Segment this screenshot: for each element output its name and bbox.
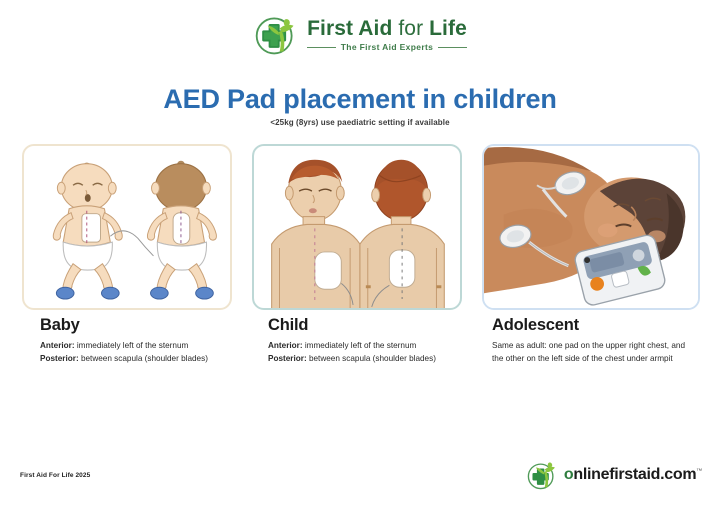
caption-baby-text-2: between scapula (shoulder blades) [79,354,208,363]
child-front-and-back-aed-pads-illustration [254,146,460,309]
footer-logo-text-o: o [564,466,573,483]
brand-name-part2: for [398,17,423,40]
caption-child-label-1: Anterior: [268,341,303,350]
first-aid-cross-person-icon [253,12,299,58]
footer-logo-text: onlinefirstaid.com™ [564,466,702,484]
footer-copyright: First Aid For Life 2025 [20,472,90,479]
footer-logo-tm: ™ [696,469,702,475]
caption-child: Child Anterior: immediately left of the … [268,316,468,365]
caption-baby: Baby Anterior: immediately left of the s… [40,316,240,365]
brand-name-part1: First Aid [307,17,392,40]
caption-child-label-2: Posterior: [268,354,307,363]
page-subtitle: <25kg (8yrs) use paediatric setting if a… [0,118,720,127]
brand-name-part3: Life [429,17,467,40]
caption-baby-label-2: Posterior: [40,354,79,363]
brand-tagline-row: The First Aid Experts [307,43,467,52]
panel-baby [22,144,232,310]
tagline-rule-left [307,47,336,48]
caption-child-line-1: Anterior: immediately left of the sternu… [268,340,468,353]
page-title: AED Pad placement in children [0,84,720,115]
brand-header: First Aid for Life The First Aid Experts [0,12,720,58]
footer-logo[interactable]: onlinefirstaid.com™ [525,458,702,492]
caption-baby-line-1: Anterior: immediately left of the sternu… [40,340,240,353]
footer-logo-text-rest: nlinefirstaid.com [573,466,696,483]
caption-child-line-2: Posterior: between scapula (shoulder bla… [268,353,468,366]
caption-adolescent-line-1: Same as adult: one pad on the upper righ… [492,340,697,365]
baby-front-and-back-aed-pads-illustration [24,146,230,309]
online-first-aid-cross-person-icon [525,458,559,492]
panel-row [22,144,702,310]
caption-child-heading: Child [268,316,468,335]
caption-adolescent: Adolescent Same as adult: one pad on the… [492,316,697,365]
panel-adolescent [482,144,700,310]
panel-child [252,144,462,310]
adolescent-supine-with-aed-unit-illustration [484,146,698,309]
caption-baby-label-1: Anterior: [40,341,75,350]
caption-child-text-2: between scapula (shoulder blades) [307,354,436,363]
brand-wordmark: First Aid for Life The First Aid Experts [307,18,467,52]
caption-adolescent-heading: Adolescent [492,316,697,335]
infographic-page: First Aid for Life The First Aid Experts… [0,0,720,516]
brand-name: First Aid for Life [307,18,467,39]
tagline-rule-right [438,47,467,48]
caption-baby-heading: Baby [40,316,240,335]
caption-adolescent-text-1: Same as adult: one pad on the upper righ… [492,341,685,363]
brand-tagline: The First Aid Experts [341,43,434,52]
caption-child-text-1: immediately left of the sternum [303,341,417,350]
caption-baby-text-1: immediately left of the sternum [75,341,189,350]
caption-baby-line-2: Posterior: between scapula (shoulder bla… [40,353,240,366]
